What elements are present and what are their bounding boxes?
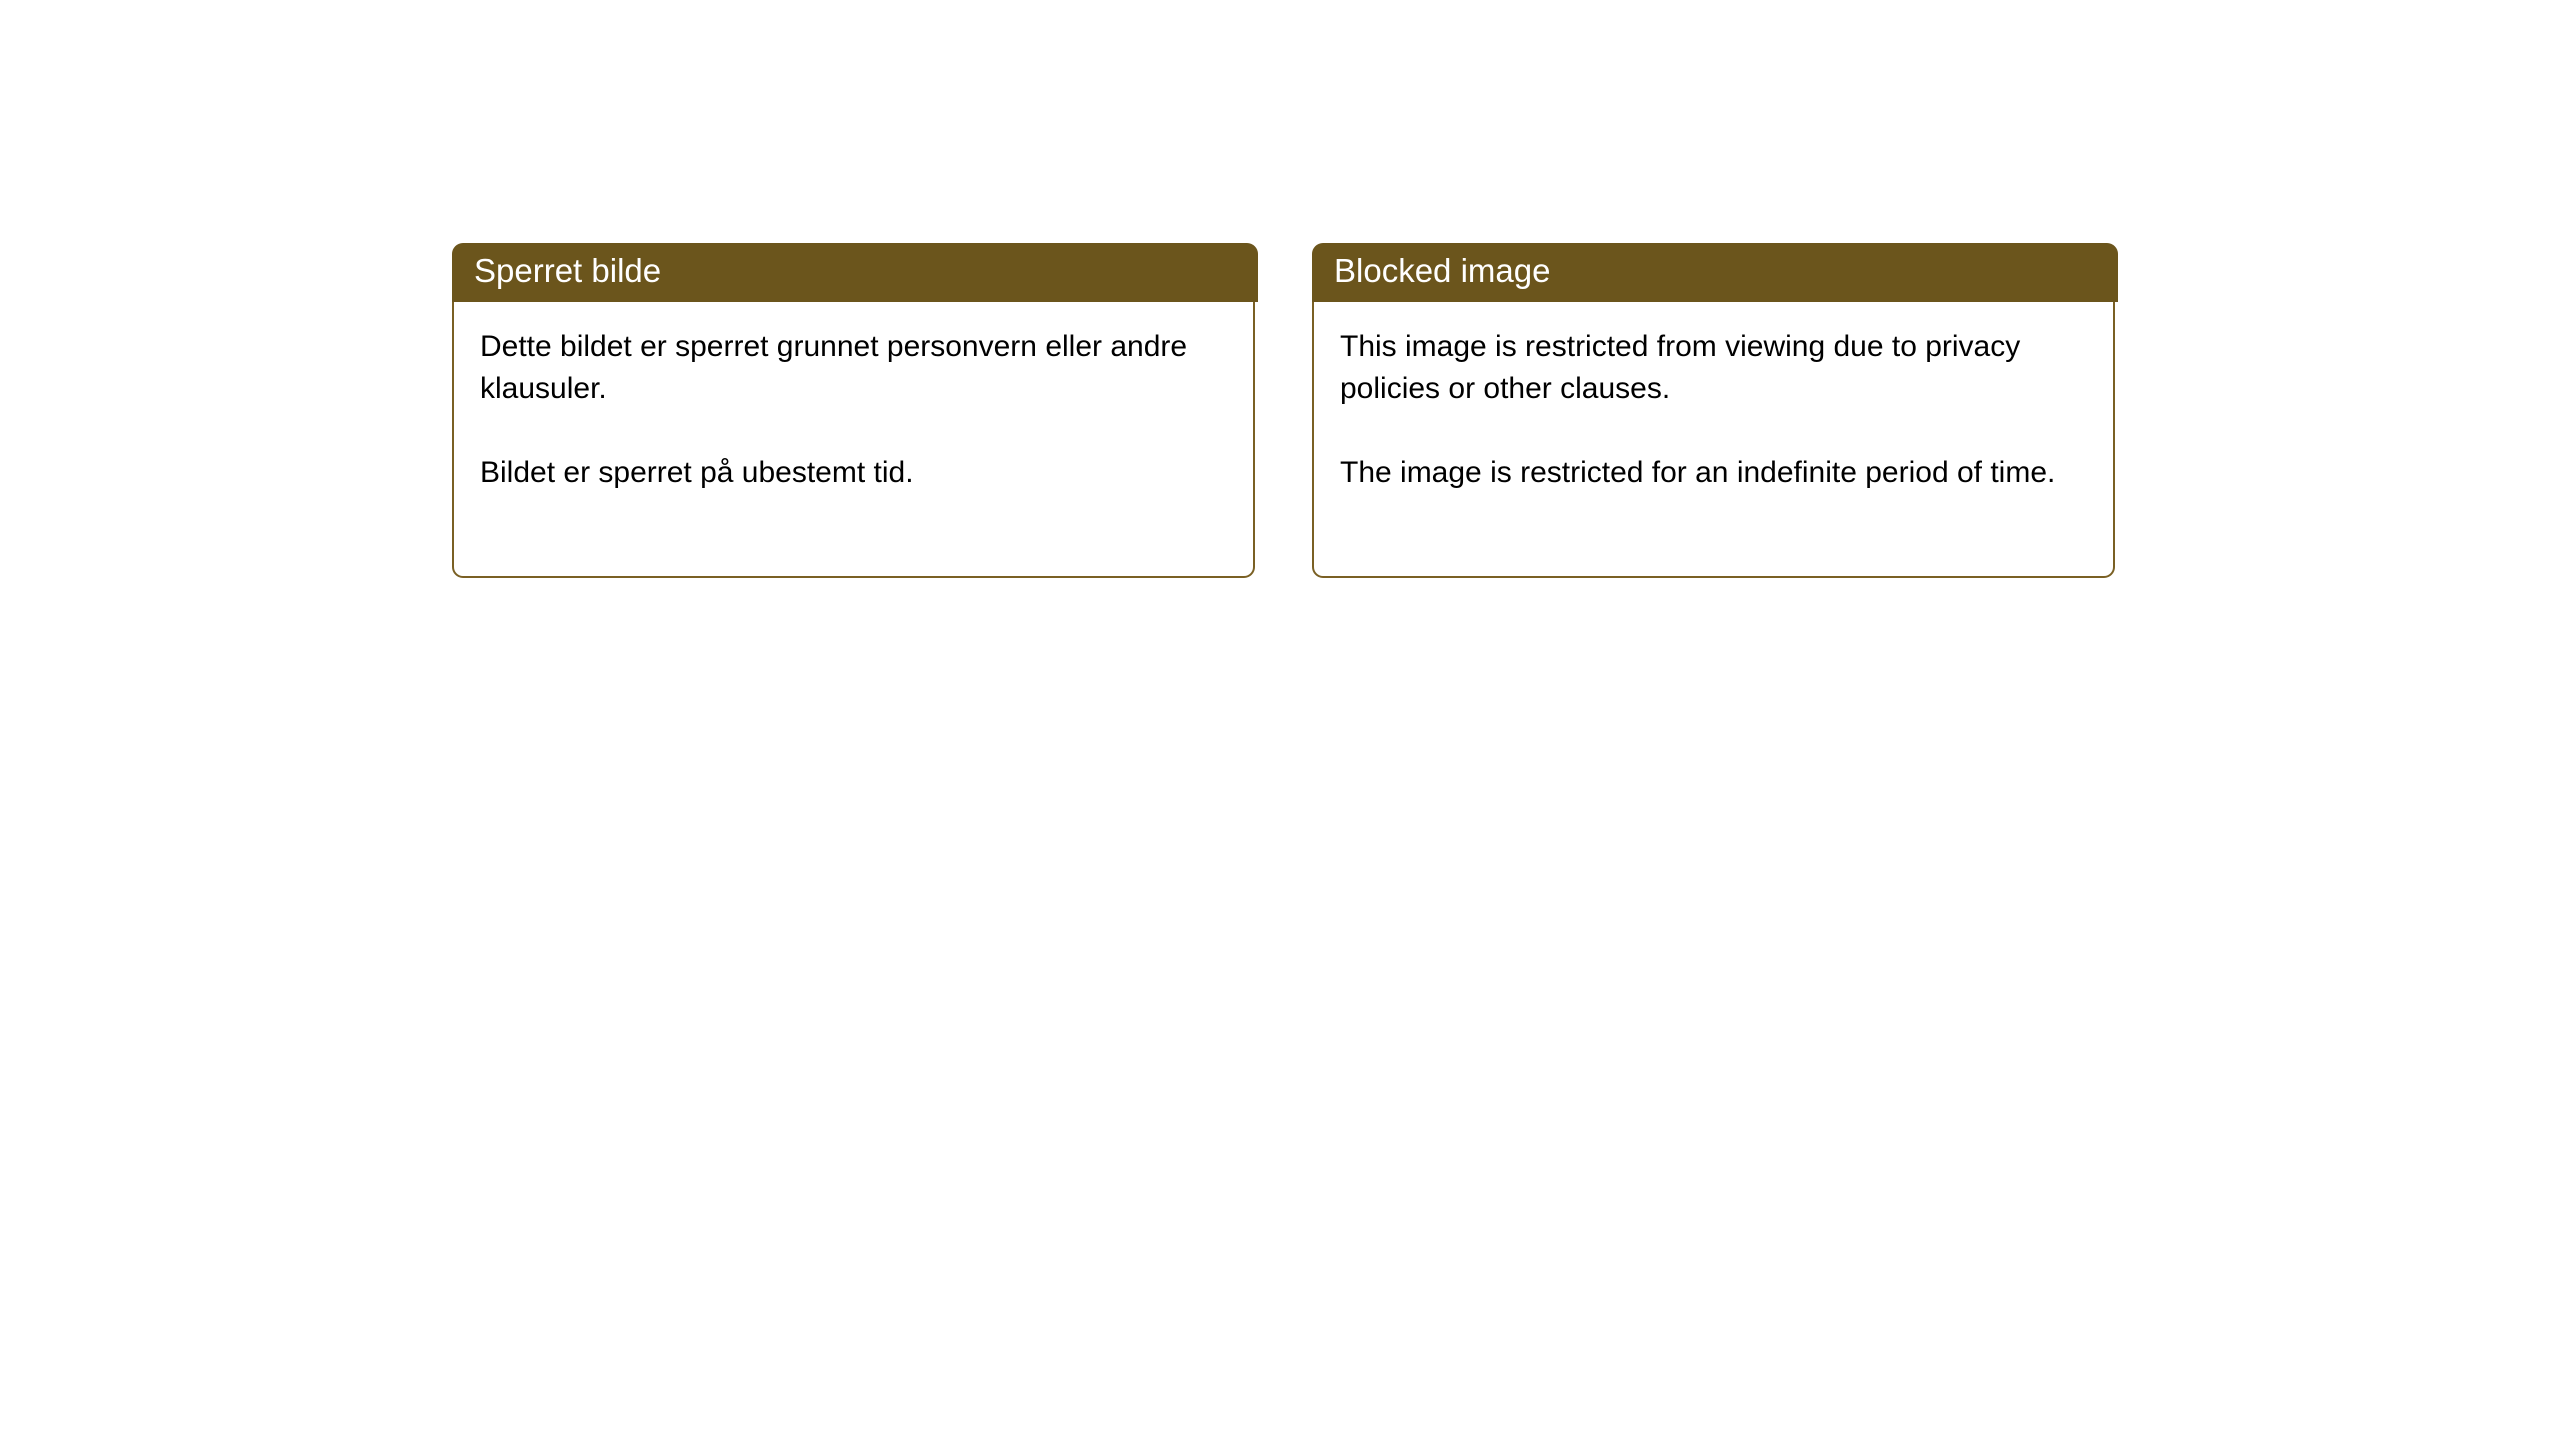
notice-paragraph: The image is restricted for an indefinit… <box>1340 452 2093 494</box>
notice-header-bar: Blocked image <box>1312 243 2118 302</box>
notice-paragraph: Dette bildet er sperret grunnet personve… <box>480 326 1233 410</box>
notice-body-panel: This image is restricted from viewing du… <box>1312 265 2115 578</box>
blocked-image-notice-norwegian: Dette bildet er sperret grunnet personve… <box>452 243 1255 578</box>
notice-header-bar: Sperret bilde <box>452 243 1258 302</box>
blocked-image-notice-english: This image is restricted from viewing du… <box>1312 243 2115 578</box>
notice-message-english: This image is restricted from viewing du… <box>1340 326 2093 494</box>
notice-title-norwegian: Sperret bilde <box>474 250 661 292</box>
notice-title-english: Blocked image <box>1334 250 1550 292</box>
notice-paragraph: This image is restricted from viewing du… <box>1340 326 2093 410</box>
notice-body-panel: Dette bildet er sperret grunnet personve… <box>452 265 1255 578</box>
notice-paragraph: Bildet er sperret på ubestemt tid. <box>480 452 1233 494</box>
notice-message-norwegian: Dette bildet er sperret grunnet personve… <box>480 326 1233 494</box>
page-canvas: Dette bildet er sperret grunnet personve… <box>0 0 2560 1440</box>
